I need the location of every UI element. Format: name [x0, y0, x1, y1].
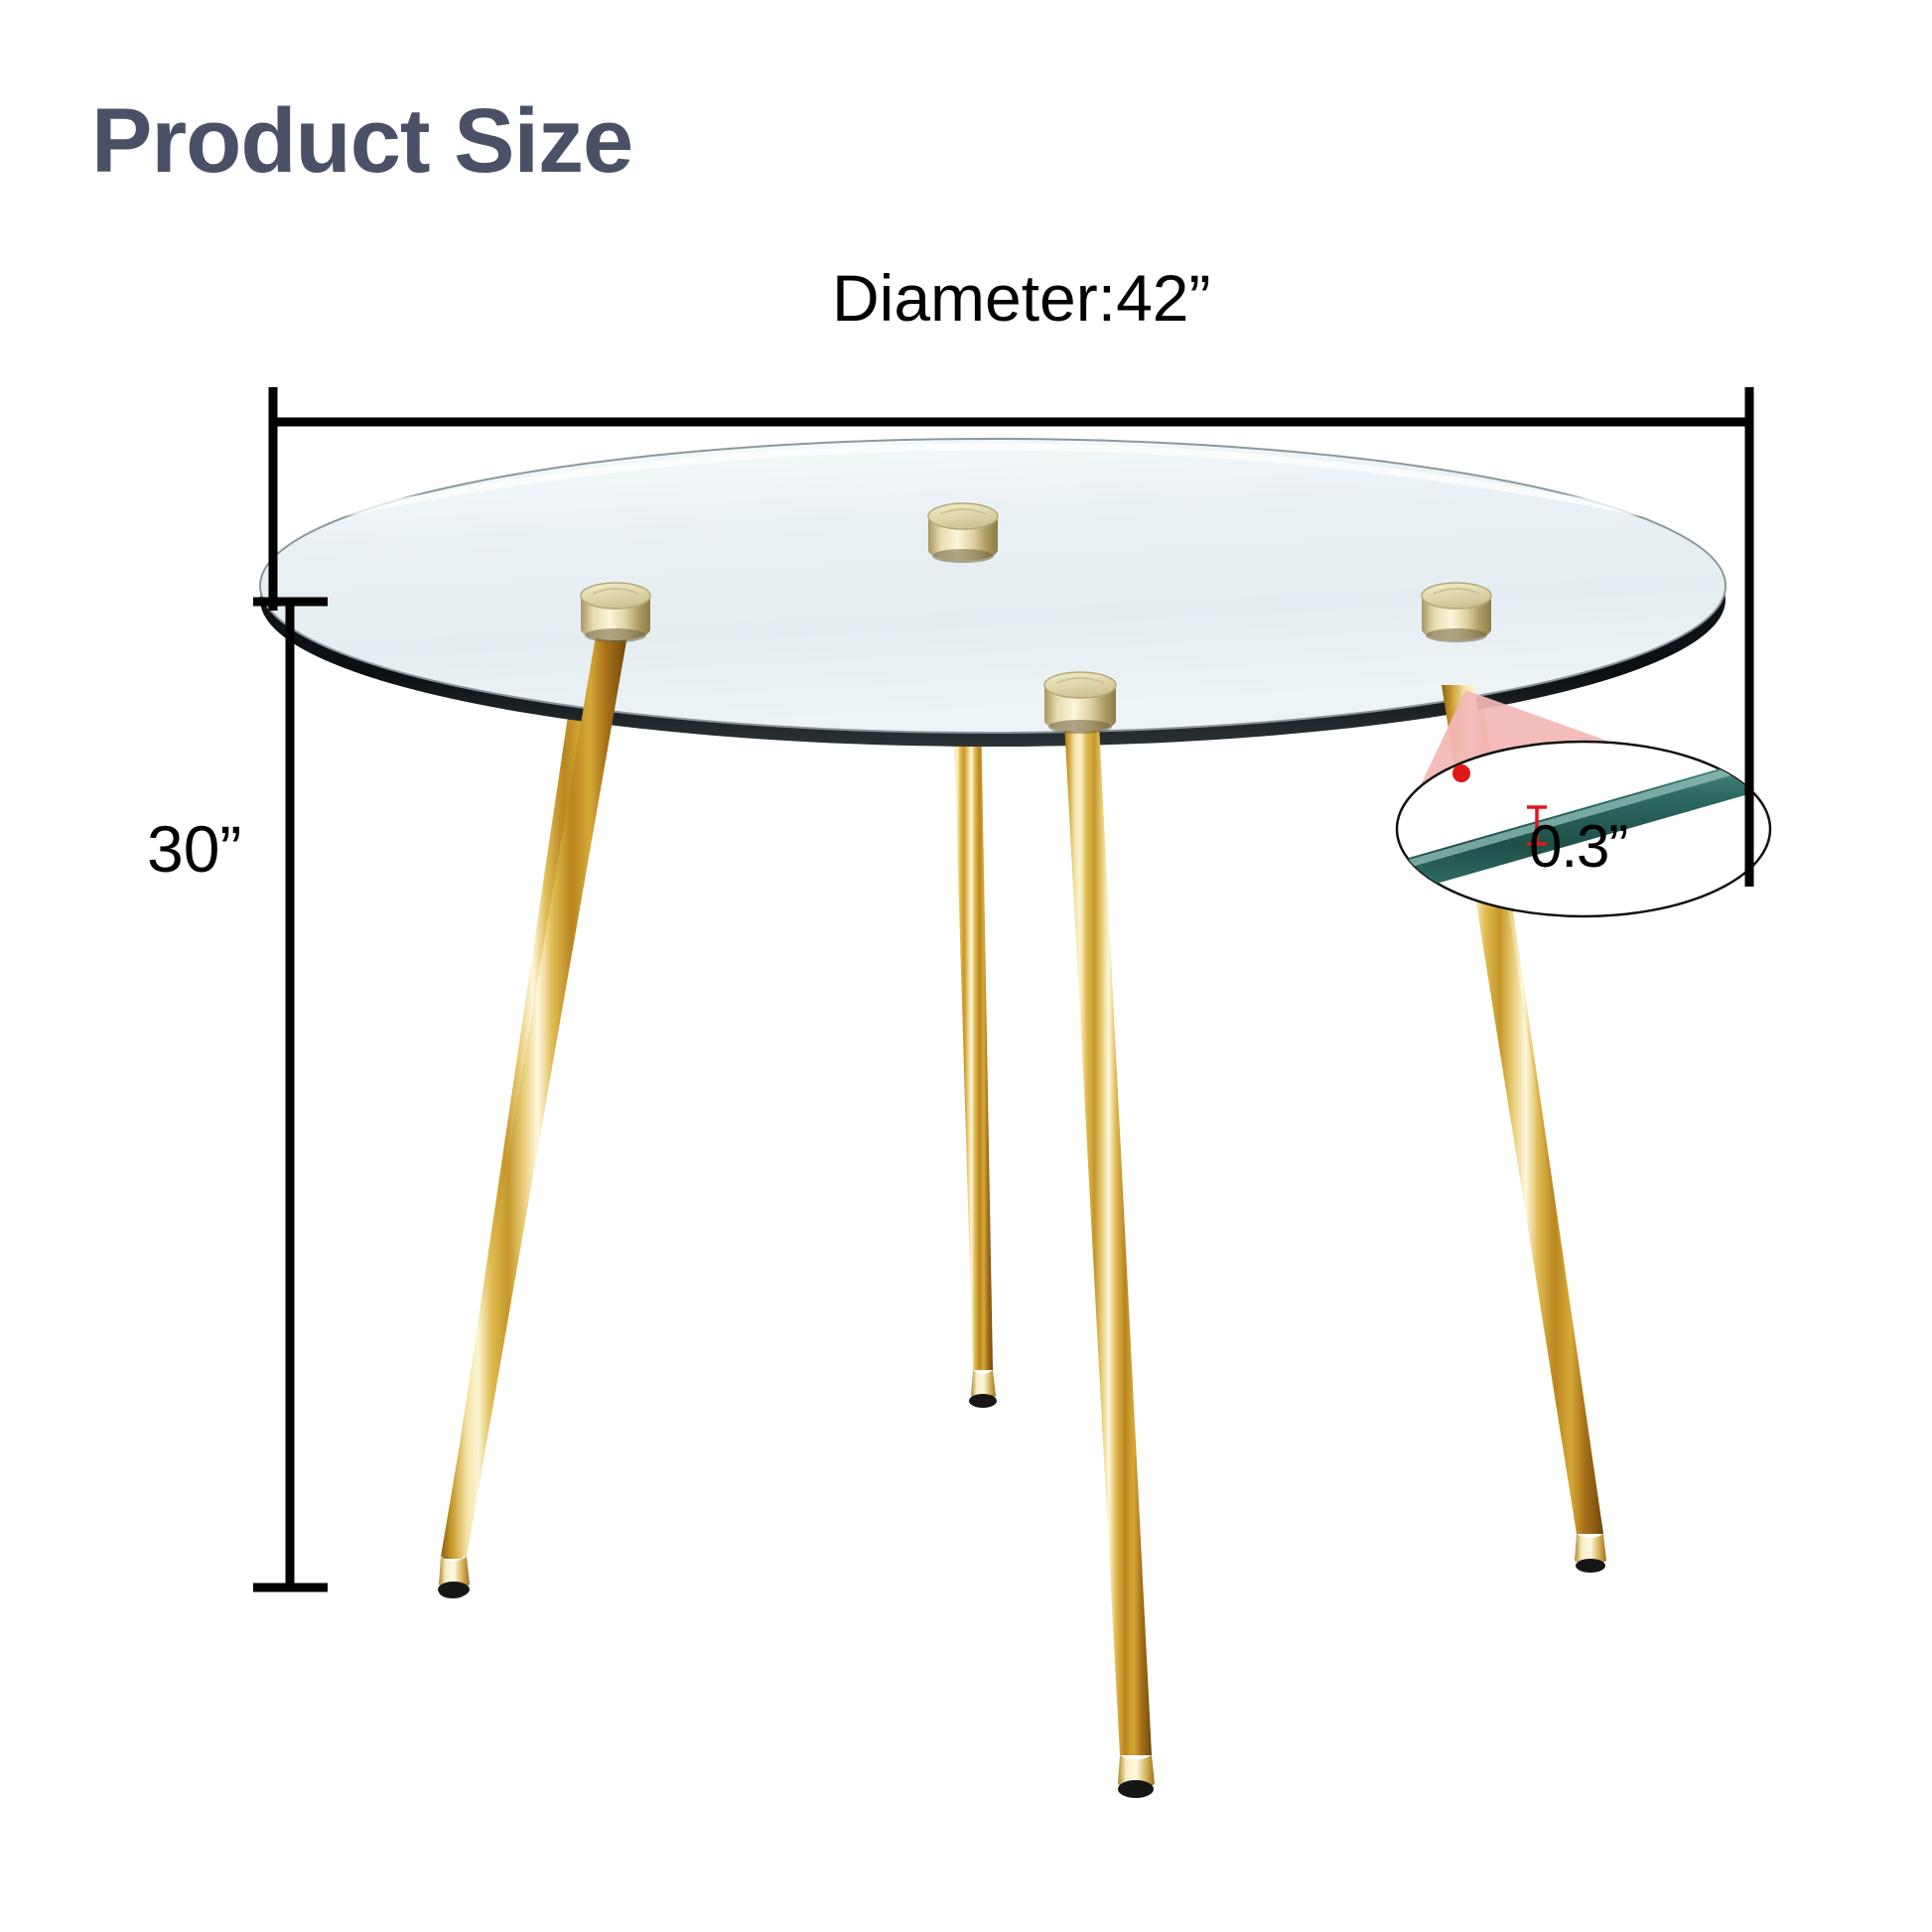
anchor-dot-icon — [1445, 757, 1478, 790]
product-size-diagram: Product Size — [0, 0, 1932, 1932]
height-label: 30” — [147, 811, 241, 887]
table-leg-front-center — [1062, 685, 1155, 1798]
leg-foot-pad — [1576, 1559, 1605, 1573]
leg-mount-cap-front-center — [1044, 672, 1116, 734]
glass-thickness-label: 0.3” — [1529, 812, 1627, 881]
leg-foot-pad — [969, 1394, 997, 1408]
leg-foot-pad — [438, 1582, 470, 1597]
table-leg-front-left — [438, 635, 627, 1597]
leg-mount-cap-front-left — [581, 583, 650, 642]
diameter-label: Diameter:42” — [832, 260, 1210, 336]
leg-mount-cap-back-center — [928, 503, 998, 563]
leg-mount-cap-right — [1422, 583, 1491, 642]
leg-foot-pad — [1118, 1780, 1154, 1798]
glass-thickness-callout — [1370, 685, 1787, 933]
